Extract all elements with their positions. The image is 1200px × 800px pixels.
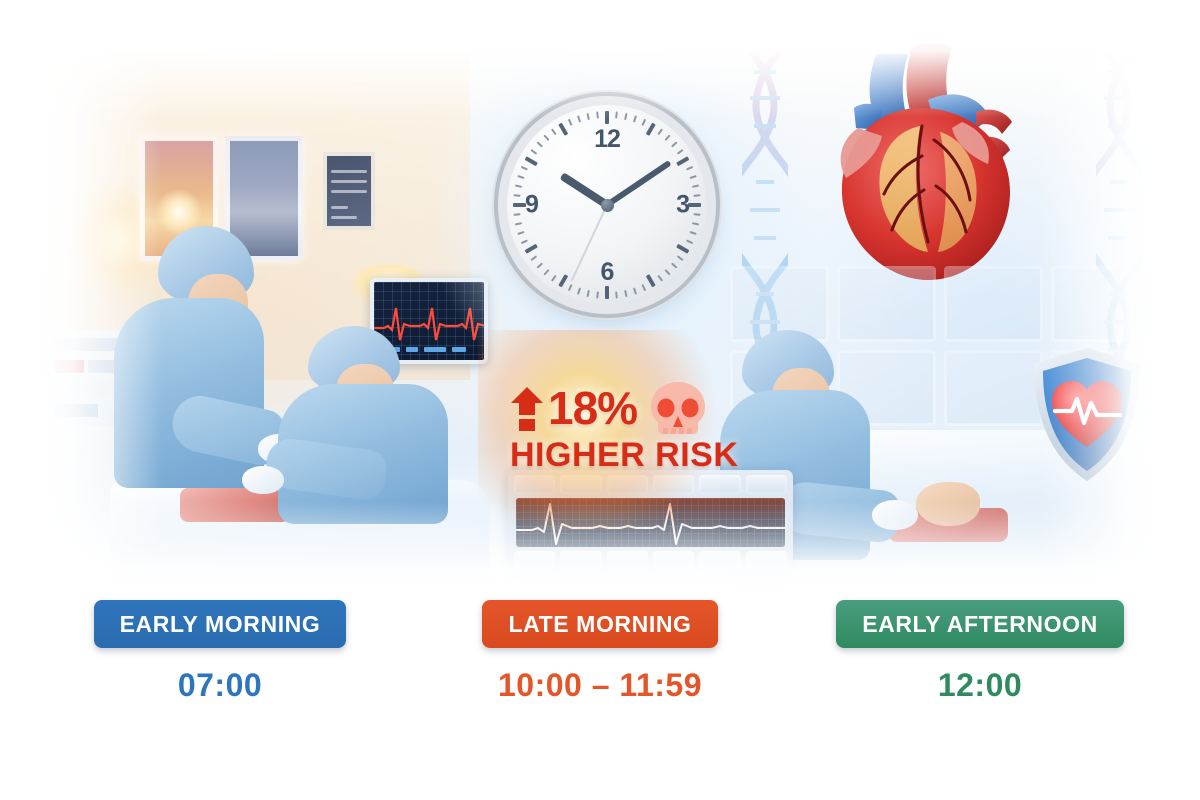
- arrow-up-icon: [510, 385, 544, 431]
- chip-early-morning[interactable]: EARLY MORNING: [94, 600, 347, 648]
- patient: [916, 482, 980, 526]
- wall-poster: [323, 152, 375, 230]
- chip-late-morning[interactable]: LATE MORNING: [482, 600, 717, 648]
- clock-numeral-6: 6: [601, 258, 614, 287]
- time-early-afternoon: 12:00: [938, 667, 1022, 704]
- time-legend: EARLY MORNING 07:00 LATE MORNING 10:00 –…: [0, 600, 1200, 730]
- monitor-bottom-buttons: [514, 551, 787, 570]
- early-morning-surgery-scene: [40, 30, 470, 590]
- chip-early-afternoon[interactable]: EARLY AFTERNOON: [836, 600, 1124, 648]
- legend-item-early-morning: EARLY MORNING 07:00: [72, 600, 368, 704]
- clock-minute-hand: [605, 160, 671, 207]
- clock-numeral-12: 12: [594, 125, 620, 154]
- risk-label: HIGHER RISK: [510, 434, 780, 476]
- clock-center-pin: [601, 199, 614, 212]
- time-late-morning: 10:00 – 11:59: [498, 667, 702, 704]
- infographic-root: 12 3 6 9: [0, 0, 1200, 800]
- clock-numeral-3: 3: [676, 191, 689, 220]
- heart-shield-badge-icon: [1028, 345, 1146, 485]
- risk-callout: 18% HIGHER RISK: [510, 382, 780, 492]
- clock-dial: 12 3 6 9: [507, 105, 707, 305]
- risk-percent: 18%: [548, 385, 637, 431]
- wall-clock: 12 3 6 9: [507, 105, 707, 305]
- legend-item-late-morning: LATE MORNING 10:00 – 11:59: [452, 600, 748, 704]
- surgical-field: [180, 488, 290, 522]
- anatomical-heart-icon: [816, 36, 1036, 286]
- clock-numeral-9: 9: [525, 191, 538, 220]
- time-early-morning: 07:00: [178, 667, 262, 704]
- legend-item-early-afternoon: EARLY AFTERNOON 12:00: [832, 600, 1128, 704]
- risk-callout-top: 18%: [510, 382, 780, 434]
- skull-icon: [647, 380, 709, 436]
- illustration-panel: 12 3 6 9: [40, 30, 1160, 590]
